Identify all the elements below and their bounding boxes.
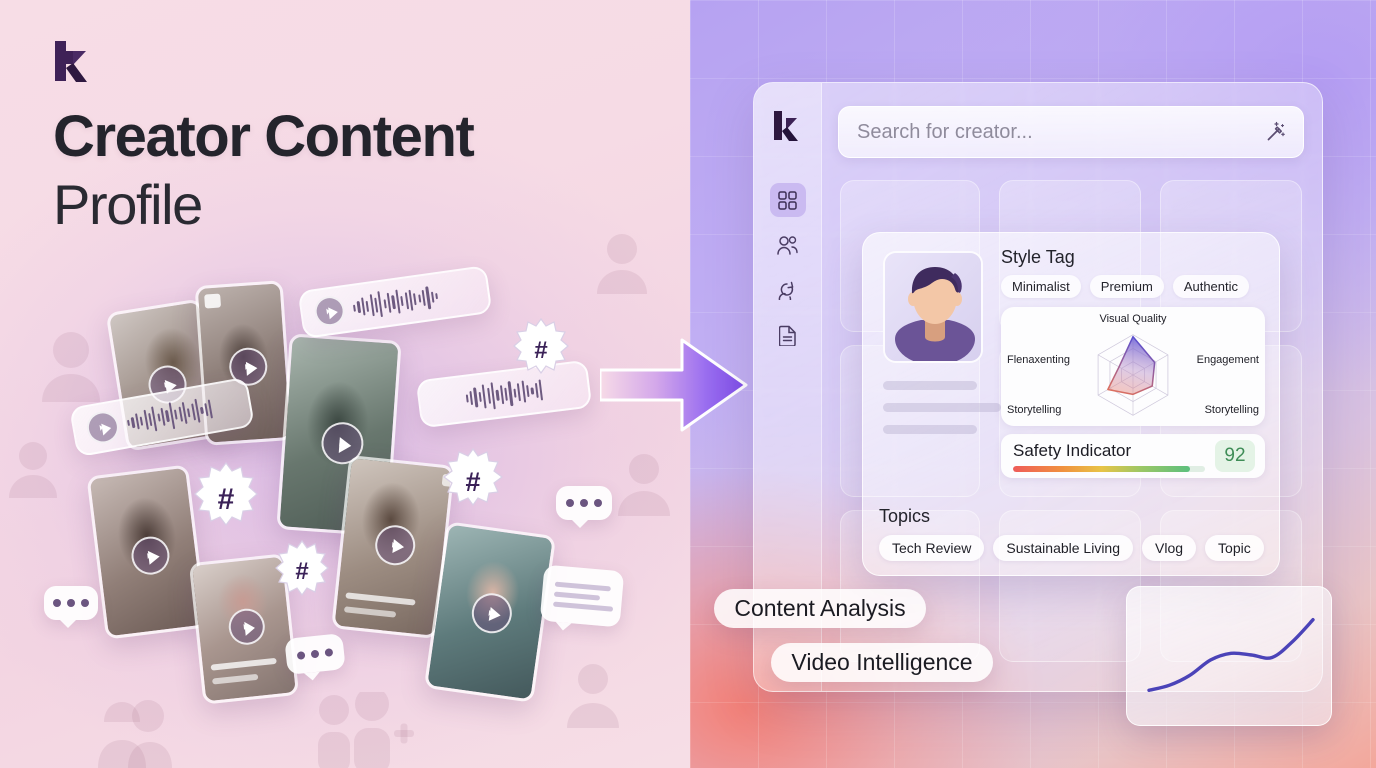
comment-bubble-icon	[556, 486, 612, 520]
floating-pill-label: Content Analysis	[734, 595, 905, 622]
play-icon	[84, 409, 121, 446]
avatar	[883, 251, 983, 363]
svg-text:#: #	[534, 337, 547, 364]
sync-refresh-icon	[778, 281, 798, 300]
comment-bubble-icon	[540, 565, 625, 628]
sidebar-item-reports[interactable]	[770, 318, 806, 352]
waveform	[350, 274, 441, 329]
style-tag-chip-list: Minimalist Premium Authentic	[1001, 275, 1265, 298]
hashtag-badge-icon: #	[440, 448, 506, 514]
topic-chip[interactable]: Sustainable Living	[993, 535, 1133, 561]
sidebar-item-dashboard[interactable]	[770, 183, 806, 217]
hashtag-badge-icon: #	[190, 462, 262, 534]
topics-title: Topics	[879, 506, 1265, 527]
magic-wand-icon[interactable]	[1263, 120, 1287, 144]
hashtag-badge-icon: #	[510, 318, 572, 380]
floating-pill-video-intelligence[interactable]: Video Intelligence	[771, 643, 993, 682]
right-arrow-icon	[600, 330, 750, 440]
topics-section: Topics Tech Review Sustainable Living Vl…	[879, 506, 1265, 561]
floating-pill-label: Video Intelligence	[791, 649, 972, 676]
radar-chart-card: Visual Quality Engagement Storytelling S…	[1001, 307, 1265, 426]
sidebar-item-creators[interactable]	[770, 228, 806, 262]
topic-chip[interactable]: Vlog	[1142, 535, 1196, 561]
poster-canvas: Creator Content Profile	[0, 0, 1376, 768]
safety-indicator-title: Safety Indicator	[1013, 441, 1205, 461]
comment-bubble-icon	[44, 586, 98, 620]
safety-progress-fill	[1013, 466, 1190, 472]
content-collage: # # # #	[0, 0, 690, 768]
safety-progress-track	[1013, 466, 1205, 472]
radar-axis-label: Storytelling	[1007, 404, 1061, 416]
skeleton-line	[883, 381, 977, 390]
search-input[interactable]: Search for creator...	[838, 106, 1304, 158]
topic-chip[interactable]: Tech Review	[879, 535, 984, 561]
radar-axis-label: Engagement	[1197, 354, 1259, 366]
audio-waveform-card	[298, 265, 493, 339]
floating-pill-content-analysis[interactable]: Content Analysis	[714, 589, 926, 628]
creator-profile-card: Style Tag Minimalist Premium Authentic V…	[862, 232, 1280, 576]
style-tag-chip[interactable]: Premium	[1090, 275, 1164, 298]
k-logo-icon	[772, 109, 804, 143]
user-avatar-illustration	[885, 253, 983, 363]
comment-bubble-icon	[284, 633, 345, 675]
growth-chart-card	[1126, 586, 1332, 726]
radar-chart-plot	[1085, 327, 1181, 423]
play-icon	[313, 294, 347, 328]
svg-text:#: #	[218, 483, 235, 516]
document-icon	[779, 325, 797, 346]
skeleton-line	[883, 403, 1001, 412]
style-tag-title: Style Tag	[1001, 247, 1265, 268]
radar-axis-label: Storytelling	[1205, 404, 1259, 416]
skeleton-line	[883, 425, 977, 434]
reel-badge-icon	[204, 293, 221, 308]
style-tag-chip[interactable]: Authentic	[1173, 275, 1249, 298]
topics-chip-list: Tech Review Sustainable Living Vlog Topi…	[879, 535, 1265, 561]
profile-details: Style Tag Minimalist Premium Authentic V…	[1001, 247, 1265, 478]
search-placeholder: Search for creator...	[857, 121, 1263, 144]
svg-text:#: #	[295, 558, 308, 585]
radar-axis-label: Visual Quality	[1099, 313, 1166, 325]
safety-indicator-card: Safety Indicator 92	[1001, 434, 1265, 478]
video-thumbnail-card	[424, 521, 556, 703]
svg-text:#: #	[465, 467, 480, 497]
hashtag-badge-icon: #	[272, 540, 332, 600]
people-icon	[777, 236, 798, 255]
growth-line-chart	[1127, 587, 1332, 726]
topic-chip[interactable]: Topic	[1205, 535, 1264, 561]
left-hero-panel: Creator Content Profile	[0, 0, 690, 768]
sidebar-nav	[770, 183, 806, 352]
radar-axis-label: Flenaxenting	[1007, 354, 1070, 366]
grid-dashboard-icon	[778, 191, 797, 210]
safety-score-badge: 92	[1215, 440, 1255, 472]
style-tag-chip[interactable]: Minimalist	[1001, 275, 1081, 298]
sidebar-item-sync[interactable]	[770, 273, 806, 307]
